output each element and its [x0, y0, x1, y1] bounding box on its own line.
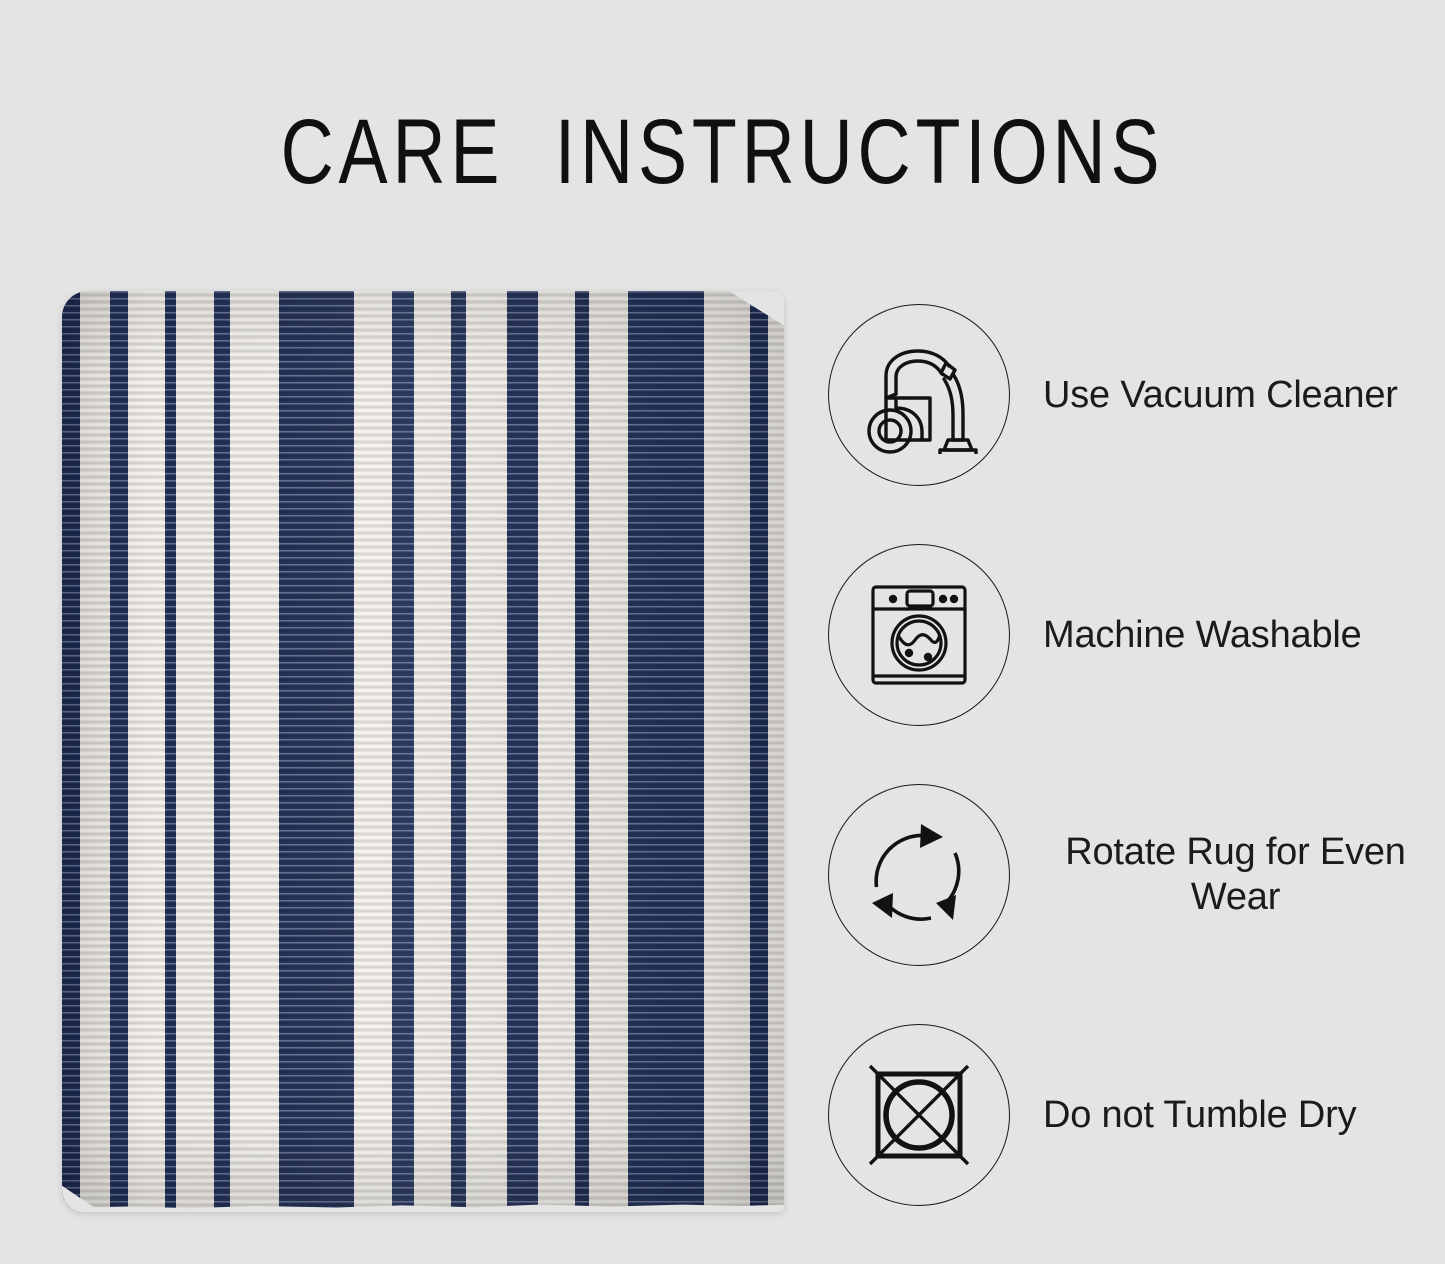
no-tumble-dry-icon [828, 1024, 1010, 1206]
striped-rug-photo [62, 291, 784, 1212]
rotate-arrows-icon [828, 784, 1010, 966]
care-instructions-page: CARE INSTRUCTIONS [0, 0, 1445, 1264]
instruction-label-vacuum: Use Vacuum Cleaner [1043, 373, 1398, 418]
instruction-label-rotate: Rotate Rug for Even Wear [1043, 830, 1428, 920]
product-image-container [62, 291, 784, 1212]
instruction-row-no-tumble-dry: Do not Tumble Dry [828, 1025, 1428, 1205]
instruction-label-no-tumble-dry: Do not Tumble Dry [1043, 1093, 1356, 1138]
instruction-label-machine-wash: Machine Washable [1043, 613, 1362, 658]
rug-shading-overlay [62, 291, 784, 1212]
washing-machine-icon [828, 544, 1010, 726]
instruction-row-machine-wash: Machine Washable [828, 545, 1428, 725]
instruction-row-rotate: Rotate Rug for Even Wear [828, 785, 1428, 965]
instruction-row-vacuum: Use Vacuum Cleaner [828, 305, 1428, 485]
page-title: CARE INSTRUCTIONS [145, 104, 1301, 201]
vacuum-cleaner-icon [828, 304, 1010, 486]
